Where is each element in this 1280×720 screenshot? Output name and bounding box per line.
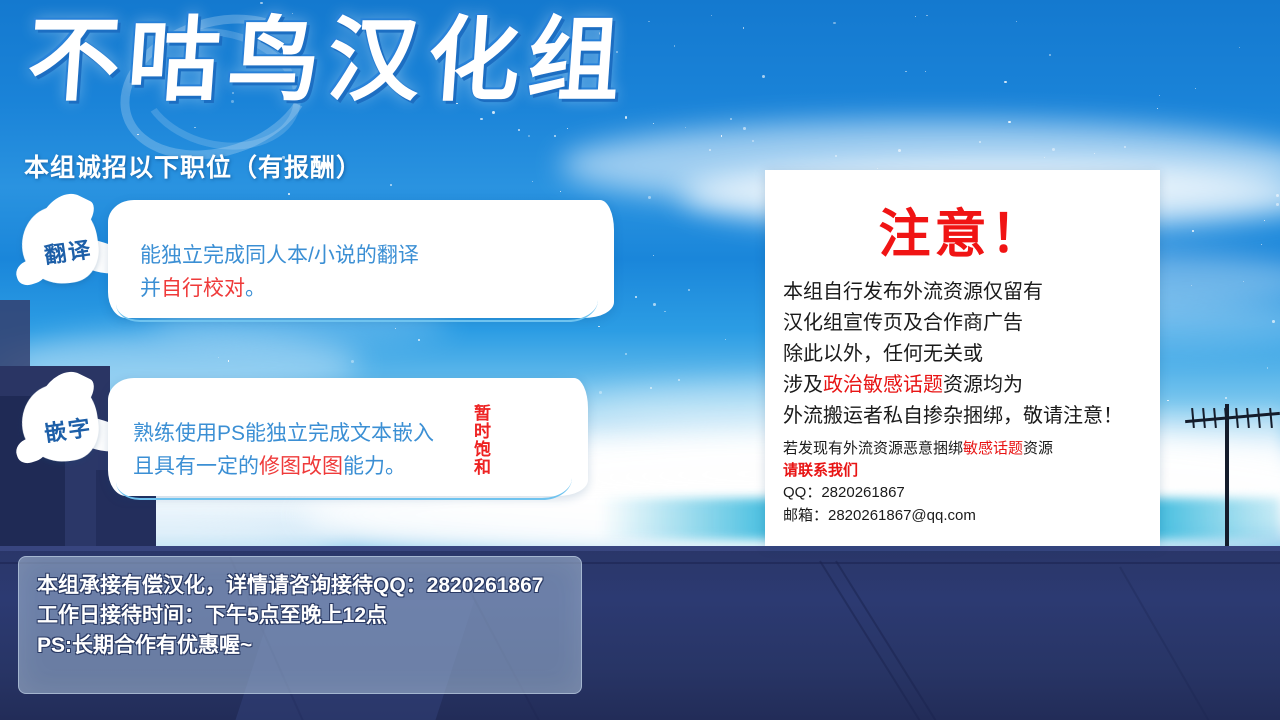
job-line-1: 能独立完成同人本/小说的翻译 <box>140 244 419 267</box>
notice-line-highlighted: 涉及政治敏感话题资源均为 <box>765 370 1160 401</box>
star-dot <box>528 135 530 137</box>
star-dot <box>709 149 711 151</box>
star-dot <box>833 22 836 25</box>
notice-small-highlight: 敏感话题 <box>963 440 1023 457</box>
star-dot <box>1267 367 1269 369</box>
star-dot <box>1049 54 1051 56</box>
star-dot <box>762 75 765 78</box>
footer-line-note: PS:长期合作有优惠喔~ <box>37 631 581 661</box>
footer-line-service: 本组承接有偿汉化，详情请咨询接待QQ：2820261867 <box>37 571 581 601</box>
star-dot <box>979 141 981 143</box>
notice-prefix: 涉及 <box>783 374 823 396</box>
job-line-2-suffix: 。 <box>245 277 266 300</box>
star-dot <box>351 360 354 363</box>
notice-title: 注意！ <box>765 192 1160 267</box>
footer-line-hours: 工作日接待时间：下午5点至晚上12点 <box>37 601 581 631</box>
job-status-badge: 暂时饱和 <box>470 404 490 476</box>
star-dot <box>1276 203 1279 206</box>
job-description-translation: 能独立完成同人本/小说的翻译 并自行校对。 <box>140 240 419 305</box>
rooftop-edge <box>0 546 1280 551</box>
notice-line: 本组自行发布外流资源仅留有 <box>765 277 1160 308</box>
star-dot <box>648 196 651 199</box>
star-dot <box>653 303 656 306</box>
notice-panel: 注意！ 本组自行发布外流资源仅留有 汉化组宣传页及合作商广告 除此以外，任何无关… <box>765 170 1160 546</box>
star-dot <box>1008 121 1011 124</box>
star-dot <box>532 181 533 182</box>
notice-line: 汉化组宣传页及合作商广告 <box>765 308 1160 339</box>
notice-small-prefix: 若发现有外流资源恶意捆绑 <box>783 440 963 457</box>
job-line-2-suffix: 能力。 <box>343 455 406 478</box>
star-dot <box>599 391 602 394</box>
job-description-typesetting: 熟练使用PS能独立完成文本嵌入 且具有一定的修图改图能力。 <box>133 418 434 483</box>
page-subtitle: 本组诚招以下职位（有报酬） <box>24 148 362 184</box>
contact-us-label: 请联系我们 <box>765 460 1160 482</box>
star-dot <box>1195 88 1196 89</box>
star-dot <box>730 118 732 120</box>
notice-line: 除此以外，任何无关或 <box>765 339 1160 370</box>
star-dot <box>1159 95 1160 96</box>
job-line-2-prefix: 且具有一定的 <box>133 455 259 478</box>
star-dot <box>418 339 420 341</box>
star-dot <box>653 255 654 256</box>
notice-highlight: 政治敏感话题 <box>823 374 943 396</box>
contact-email[interactable]: 邮箱：2820261867@qq.com <box>765 505 1160 527</box>
star-dot <box>1276 194 1279 197</box>
notice-line: 外流搬运者私自掺杂捆绑，敬请注意！ <box>765 401 1160 432</box>
star-dot <box>1167 400 1169 402</box>
star-dot <box>721 135 722 136</box>
star-dot <box>1272 320 1275 323</box>
star-dot <box>877 168 878 169</box>
star-dot <box>678 379 680 381</box>
contact-qq[interactable]: QQ：2820261867 <box>765 482 1160 504</box>
footer-panel: 本组承接有偿汉化，详情请咨询接待QQ：2820261867 工作日接待时间：下午… <box>18 556 582 694</box>
star-dot <box>625 116 628 119</box>
notice-small-line-highlighted: 若发现有外流资源恶意捆绑敏感话题资源 <box>765 438 1160 460</box>
job-line-1: 熟练使用PS能独立完成文本嵌入 <box>133 422 434 445</box>
star-dot <box>1191 285 1192 286</box>
star-dot <box>905 71 906 72</box>
poster-canvas: 不咕鸟汉化组 本组诚招以下职位（有报酬） 翻译 能独立完成同人本/小说的翻译 并… <box>0 0 1280 720</box>
dove-badge-translation: 翻译 <box>14 196 122 306</box>
star-dot <box>752 140 754 142</box>
notice-small-suffix: 资源 <box>1023 440 1053 457</box>
star-dot <box>390 184 392 186</box>
job-line-2-highlight: 自行校对 <box>161 277 245 300</box>
job-line-2-prefix: 并 <box>140 277 161 300</box>
dove-badge-typesetting: 嵌字 <box>14 374 122 484</box>
page-title: 不咕鸟汉化组 <box>25 12 632 109</box>
star-dot <box>554 135 556 137</box>
notice-suffix: 资源均为 <box>943 374 1023 396</box>
star-dot <box>1052 148 1055 151</box>
star-dot <box>288 193 290 195</box>
star-dot <box>725 339 726 340</box>
star-dot <box>743 127 746 130</box>
star-dot <box>1264 220 1265 221</box>
job-line-2-highlight: 修图改图 <box>259 455 343 478</box>
star-dot <box>648 21 650 23</box>
star-dot <box>1239 47 1240 48</box>
